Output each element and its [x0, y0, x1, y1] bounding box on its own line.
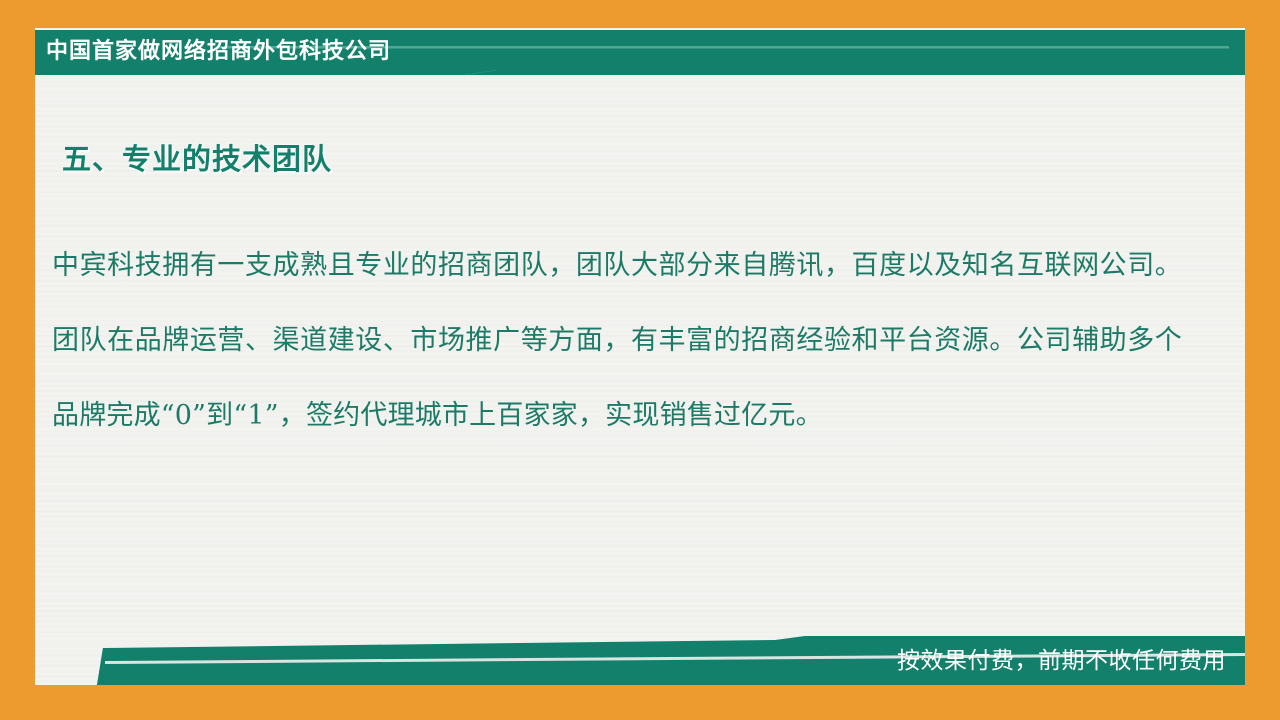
section-heading: 五、专业的技术团队: [62, 136, 332, 178]
body-paragraph: 中宾科技拥有一支成熟且专业的招商团队，团队大部分来自腾讯，百度以及知名互联网公司…: [52, 228, 1182, 453]
footer-tagline: 按效果付费，前期不收任何费用: [897, 646, 1226, 676]
slide-root: 中国首家做网络招商外包科技公司 五、专业的技术团队 中宾科技拥有一支成熟且专业的…: [0, 0, 1280, 720]
header-title: 中国首家做网络招商外包科技公司: [46, 37, 391, 67]
